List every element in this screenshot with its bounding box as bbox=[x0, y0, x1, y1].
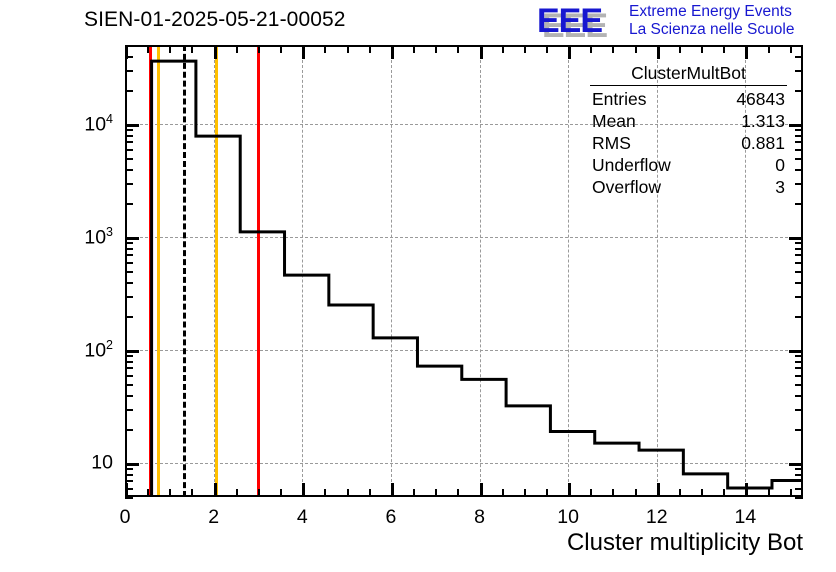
axis-tick bbox=[125, 271, 133, 273]
eee-logo-text: Extreme Energy Events La Scienza nelle S… bbox=[629, 3, 794, 39]
axis-tick bbox=[568, 483, 571, 497]
axis-tick bbox=[214, 45, 217, 59]
axis-tick bbox=[280, 45, 282, 53]
axis-tick bbox=[795, 429, 803, 431]
axis-tick bbox=[745, 483, 748, 497]
stats-row-key: Entries bbox=[592, 88, 646, 110]
axis-tick bbox=[789, 350, 803, 353]
axis-tick bbox=[795, 355, 803, 357]
axis-tick bbox=[125, 429, 133, 431]
axis-tick bbox=[480, 45, 483, 59]
stats-row-key: Underflow bbox=[592, 154, 671, 176]
y-tick-label: 10 bbox=[0, 451, 113, 474]
axis-tick bbox=[125, 350, 139, 353]
axis-tick bbox=[795, 488, 803, 490]
stats-box: ClusterMultBot Entries46843Mean1.313RMS0… bbox=[586, 63, 791, 198]
x-tick-label: 6 bbox=[385, 506, 396, 529]
page-title: SIEN-01-2025-05-21-00052 bbox=[84, 8, 346, 32]
stats-row-key: Mean bbox=[592, 110, 636, 132]
axis-tick bbox=[795, 262, 803, 264]
x-tick-label: 0 bbox=[120, 506, 131, 529]
axis-tick bbox=[590, 489, 592, 497]
axis-tick bbox=[125, 361, 133, 363]
axis-tick bbox=[480, 483, 483, 497]
axis-tick bbox=[125, 254, 133, 256]
axis-tick bbox=[125, 56, 133, 58]
stats-title: ClusterMultBot bbox=[590, 63, 787, 86]
axis-tick bbox=[324, 45, 326, 53]
axis-tick bbox=[125, 237, 139, 240]
axis-tick bbox=[302, 483, 305, 497]
axis-tick bbox=[789, 237, 803, 240]
axis-tick bbox=[347, 45, 349, 53]
axis-tick bbox=[790, 489, 792, 497]
axis-tick bbox=[795, 367, 803, 369]
axis-tick bbox=[795, 468, 803, 470]
axis-tick bbox=[125, 497, 133, 499]
axis-tick bbox=[502, 45, 504, 53]
axis-tick bbox=[795, 203, 803, 205]
axis-tick bbox=[795, 395, 803, 397]
axis-tick bbox=[795, 271, 803, 273]
x-tick-label: 4 bbox=[297, 506, 308, 529]
histogram-canvas: SIEN-01-2025-05-21-00052 EEE EEE Extreme… bbox=[0, 0, 836, 572]
axis-tick bbox=[191, 45, 193, 53]
axis-tick bbox=[795, 497, 803, 499]
axis-tick bbox=[789, 463, 803, 466]
axis-tick bbox=[125, 488, 133, 490]
axis-tick bbox=[125, 480, 133, 482]
axis-tick bbox=[191, 489, 193, 497]
axis-tick bbox=[125, 409, 133, 411]
axis-tick bbox=[258, 489, 260, 497]
axis-tick bbox=[125, 149, 133, 151]
axis-tick bbox=[524, 45, 526, 53]
eee-logo-mark: EEE EEE bbox=[537, 4, 623, 38]
axis-tick bbox=[125, 474, 133, 476]
x-tick-label: 14 bbox=[735, 506, 757, 529]
axis-tick bbox=[502, 489, 504, 497]
stats-row: Underflow0 bbox=[586, 154, 791, 176]
eee-logo-line1: Extreme Energy Events bbox=[629, 3, 794, 21]
axis-tick bbox=[391, 45, 394, 59]
axis-tick bbox=[457, 489, 459, 497]
axis-tick bbox=[413, 489, 415, 497]
axis-tick bbox=[590, 45, 592, 53]
axis-tick bbox=[612, 489, 614, 497]
y-tick-label: 102 bbox=[0, 338, 113, 363]
axis-tick bbox=[125, 463, 139, 466]
axis-tick bbox=[236, 489, 238, 497]
stats-row: Entries46843 bbox=[586, 88, 791, 110]
eee-logo-line2: La Scienza nelle Scuole bbox=[629, 21, 794, 39]
axis-tick bbox=[790, 45, 792, 53]
y-tick-label: 103 bbox=[0, 225, 113, 250]
stats-row-key: RMS bbox=[592, 132, 631, 154]
axis-tick bbox=[795, 158, 803, 160]
axis-tick bbox=[125, 135, 133, 137]
axis-tick bbox=[125, 129, 133, 131]
axis-tick bbox=[125, 158, 133, 160]
axis-tick bbox=[795, 316, 803, 318]
eee-logo-letters: EEE bbox=[537, 4, 602, 38]
axis-tick bbox=[612, 45, 614, 53]
axis-tick bbox=[125, 248, 133, 250]
x-tick-label: 10 bbox=[557, 506, 579, 529]
axis-tick bbox=[679, 489, 681, 497]
axis-tick bbox=[125, 384, 133, 386]
axis-tick bbox=[795, 296, 803, 298]
axis-tick bbox=[795, 384, 803, 386]
axis-tick bbox=[258, 45, 260, 53]
stats-row: RMS0.881 bbox=[586, 132, 791, 154]
axis-tick bbox=[324, 489, 326, 497]
axis-tick bbox=[795, 45, 803, 47]
axis-tick bbox=[795, 135, 803, 137]
stats-row-value: 0 bbox=[775, 154, 785, 176]
axis-tick bbox=[701, 45, 703, 53]
stats-row-value: 3 bbox=[775, 176, 785, 198]
axis-tick bbox=[125, 367, 133, 369]
axis-tick bbox=[236, 45, 238, 53]
axis-tick bbox=[369, 489, 371, 497]
axis-tick bbox=[169, 489, 171, 497]
axis-tick bbox=[125, 70, 133, 72]
axis-tick bbox=[125, 468, 133, 470]
axis-tick bbox=[125, 296, 133, 298]
axis-tick bbox=[701, 489, 703, 497]
axis-tick bbox=[546, 489, 548, 497]
axis-tick bbox=[125, 375, 133, 377]
axis-tick bbox=[795, 409, 803, 411]
stats-row: Mean1.313 bbox=[586, 110, 791, 132]
y-tick-label: 104 bbox=[0, 112, 113, 137]
axis-tick bbox=[795, 248, 803, 250]
x-tick-label: 8 bbox=[474, 506, 485, 529]
axis-tick bbox=[369, 45, 371, 53]
x-axis-title: Cluster multiplicity Bot bbox=[567, 529, 803, 557]
axis-tick bbox=[125, 203, 133, 205]
axis-tick bbox=[657, 45, 660, 59]
axis-tick bbox=[635, 489, 637, 497]
axis-tick bbox=[125, 169, 133, 171]
axis-tick bbox=[524, 489, 526, 497]
stats-row-value: 1.313 bbox=[741, 110, 785, 132]
axis-tick bbox=[795, 242, 803, 244]
axis-tick bbox=[125, 316, 133, 318]
axis-tick bbox=[679, 45, 681, 53]
axis-tick bbox=[125, 45, 133, 47]
x-tick-label: 12 bbox=[646, 506, 668, 529]
axis-tick bbox=[214, 483, 217, 497]
axis-tick bbox=[125, 282, 133, 284]
axis-tick bbox=[125, 90, 133, 92]
axis-tick bbox=[795, 56, 803, 58]
axis-tick bbox=[125, 242, 133, 244]
axis-tick bbox=[789, 124, 803, 127]
axis-tick bbox=[169, 45, 171, 53]
axis-tick bbox=[795, 129, 803, 131]
eee-logo: EEE EEE Extreme Energy Events La Scienza… bbox=[537, 2, 833, 42]
axis-tick bbox=[795, 90, 803, 92]
axis-tick bbox=[147, 489, 149, 497]
axis-tick bbox=[435, 45, 437, 53]
axis-tick bbox=[413, 45, 415, 53]
axis-tick bbox=[568, 45, 571, 59]
axis-tick bbox=[795, 183, 803, 185]
axis-tick bbox=[125, 124, 139, 127]
x-tick-label: 2 bbox=[208, 506, 219, 529]
axis-tick bbox=[125, 262, 133, 264]
axis-tick bbox=[795, 141, 803, 143]
axis-tick bbox=[457, 45, 459, 53]
axis-tick bbox=[795, 282, 803, 284]
axis-tick bbox=[795, 149, 803, 151]
axis-tick bbox=[795, 480, 803, 482]
axis-tick bbox=[723, 45, 725, 53]
axis-tick bbox=[125, 183, 133, 185]
axis-tick bbox=[795, 375, 803, 377]
stats-row-value: 0.881 bbox=[741, 132, 785, 154]
axis-tick bbox=[795, 70, 803, 72]
axis-tick bbox=[795, 169, 803, 171]
axis-tick bbox=[768, 45, 770, 53]
axis-tick bbox=[745, 45, 748, 59]
stats-row-value: 46843 bbox=[736, 88, 785, 110]
axis-tick bbox=[635, 45, 637, 53]
axis-tick bbox=[147, 45, 149, 53]
axis-tick bbox=[723, 489, 725, 497]
axis-tick bbox=[795, 254, 803, 256]
axis-tick bbox=[795, 474, 803, 476]
axis-tick bbox=[125, 395, 133, 397]
axis-tick bbox=[280, 489, 282, 497]
axis-tick bbox=[657, 483, 660, 497]
axis-tick bbox=[125, 355, 133, 357]
axis-tick bbox=[435, 489, 437, 497]
axis-tick bbox=[768, 489, 770, 497]
axis-tick bbox=[302, 45, 305, 59]
axis-tick bbox=[795, 361, 803, 363]
stats-row-key: Overflow bbox=[592, 176, 661, 198]
stats-row: Overflow3 bbox=[586, 176, 791, 198]
axis-tick bbox=[391, 483, 394, 497]
axis-tick bbox=[546, 45, 548, 53]
axis-tick bbox=[125, 141, 133, 143]
axis-tick bbox=[347, 489, 349, 497]
